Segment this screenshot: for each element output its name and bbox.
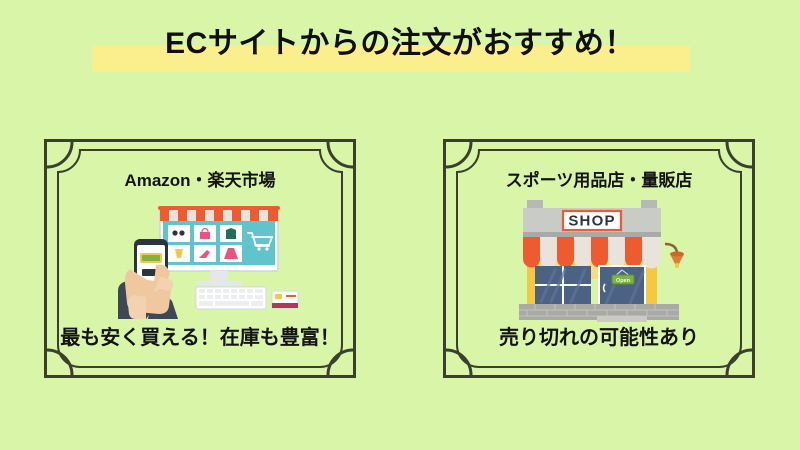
wall-lamp-icon: [665, 244, 684, 268]
page-title-area: ECサイトからの注文がおすすめ！: [0, 18, 800, 82]
card-physical-stores[interactable]: スポーツ用品店・量販店 SHOP: [443, 139, 755, 378]
card-heading: スポーツ用品店・量販店: [443, 166, 755, 191]
shop-sign-text: SHOP: [568, 213, 615, 230]
card-caption: 最も安く買える！在庫も豊富！: [44, 321, 356, 350]
card-caption: 売り切れの可能性あり: [443, 321, 755, 350]
online-shopping-illustration: [100, 199, 300, 319]
card-ec-sites[interactable]: Amazon・楽天市場: [44, 139, 356, 378]
page-title: ECサイトからの注文がおすすめ！: [0, 18, 800, 70]
open-sign-text: Open: [616, 278, 631, 284]
storefront-illustration: SHOP: [505, 192, 695, 322]
card-heading: Amazon・楽天市場: [44, 166, 356, 191]
